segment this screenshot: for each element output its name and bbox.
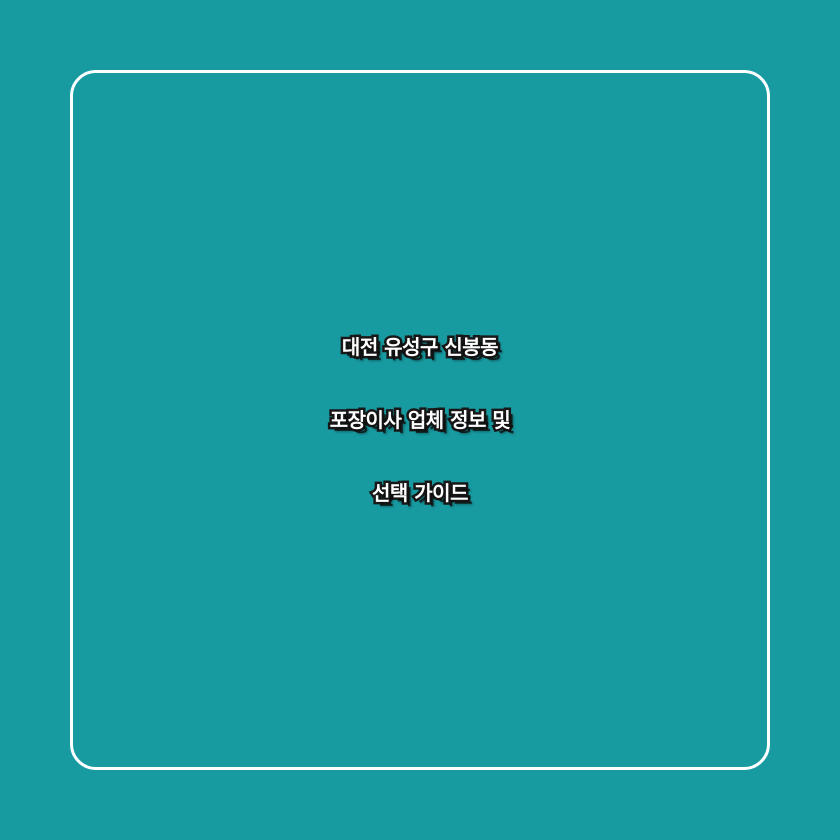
title-card: 대전 유성구 신봉동 포장이사 업체 정보 및 선택 가이드 [0,0,840,840]
page-title: 대전 유성구 신봉동 포장이사 업체 정보 및 선택 가이드 [70,311,770,530]
title-line-1: 대전 유성구 신봉동 [80,311,760,384]
title-line-2: 포장이사 업체 정보 및 [80,384,760,457]
title-line-3: 선택 가이드 [80,457,760,530]
